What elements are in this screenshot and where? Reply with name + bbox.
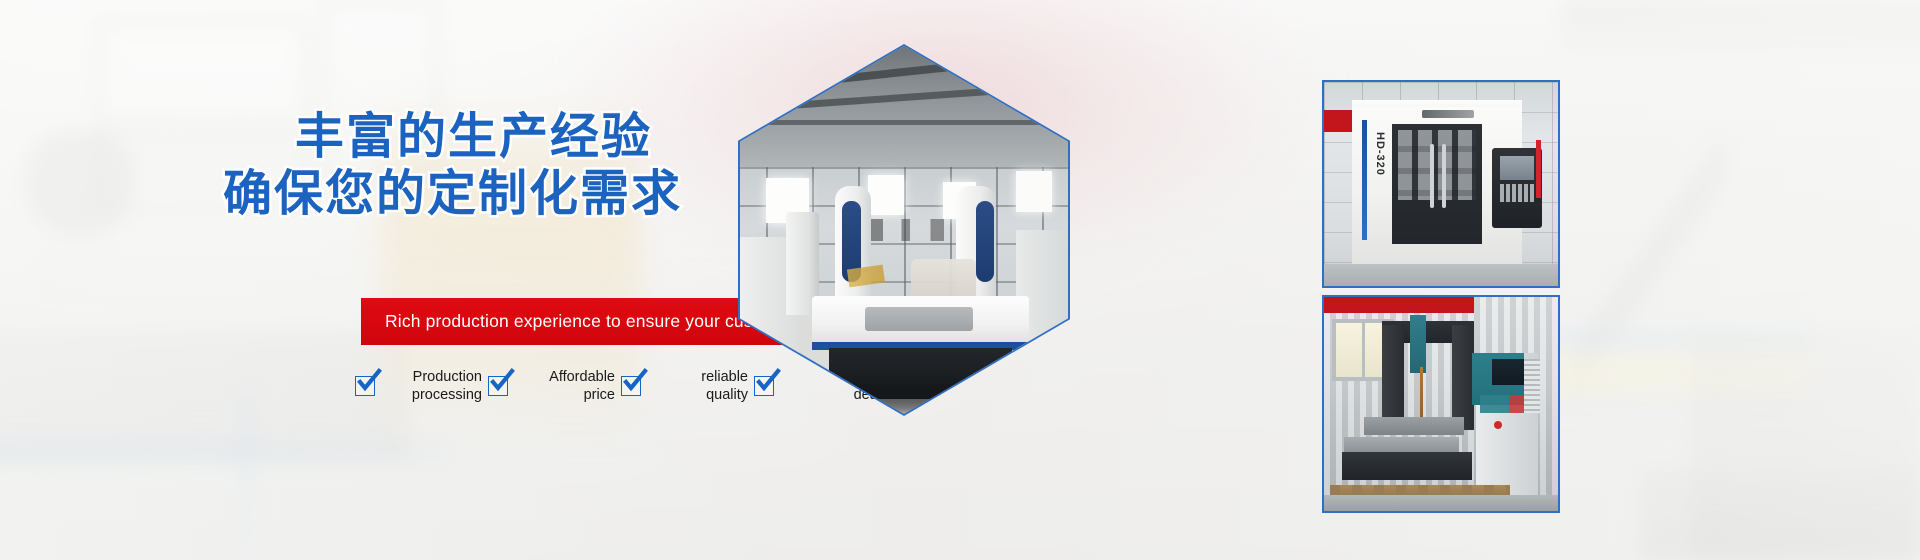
- p1-brand-logo: [1422, 110, 1474, 118]
- p1-door-handle: [1442, 144, 1446, 208]
- hexagon-photo-frame: [738, 44, 1070, 416]
- p1-door-handle: [1430, 144, 1434, 208]
- photo-hd320-machining-center: HD-320: [1322, 80, 1560, 288]
- p2-gantry-column-left: [1382, 325, 1404, 430]
- checkbox-checked-icon[interactable]: [355, 376, 375, 396]
- p1-red-accent: [1536, 140, 1541, 198]
- p2-emergency-stop-button: [1494, 421, 1502, 429]
- p1-model-label: HD-320: [1370, 132, 1386, 202]
- feature-item-reliable-quality[interactable]: reliable quality: [621, 368, 754, 404]
- feature-item-production-processing[interactable]: Production processing: [355, 368, 488, 404]
- p2-gantry-column-right: [1452, 325, 1474, 430]
- p2-floor: [1324, 495, 1558, 511]
- p2-table-upper: [1364, 417, 1464, 435]
- checkbox-checked-icon[interactable]: [488, 376, 508, 396]
- headline-line-1: 丰富的生产经验: [0, 108, 700, 165]
- p2-control-keypad: [1480, 395, 1528, 413]
- feature-label-line-1: Affordable: [549, 369, 615, 385]
- photo-edm-gantry-machine: [1322, 295, 1560, 513]
- machine-bed-window: [865, 307, 973, 331]
- hexagon-photo-cnc-line: [740, 46, 1068, 414]
- p2-teal-head: [1410, 315, 1426, 373]
- wall-sign-text: [871, 219, 956, 241]
- feature-label-line-2: price: [584, 387, 615, 403]
- feature-label-line-1: Production: [413, 369, 482, 385]
- p2-machine-bed: [1342, 452, 1472, 480]
- wall-window: [868, 175, 904, 215]
- feature-label: reliable quality: [650, 368, 748, 404]
- roof-beam: [760, 120, 1049, 126]
- factory-ceiling: [740, 46, 1068, 171]
- p2-window-mullion: [1362, 319, 1365, 381]
- p1-control-screen: [1500, 156, 1534, 180]
- p1-floor: [1324, 264, 1558, 286]
- promo-banner: 丰富的生产经验 确保您的定制化需求 Rich production experi…: [0, 0, 1920, 560]
- p2-cabinet-vents: [1524, 359, 1540, 413]
- feature-label-line-2: processing: [412, 387, 482, 403]
- feature-label: Affordable price: [517, 368, 615, 404]
- p1-control-keypad: [1500, 184, 1534, 202]
- wall-window: [1016, 171, 1052, 211]
- headline-line-2: 确保您的定制化需求: [0, 165, 700, 222]
- machine-column-c-panel: [976, 201, 994, 282]
- p1-blue-stripe: [1362, 120, 1367, 240]
- page-title: 丰富的生产经验 确保您的定制化需求: [0, 108, 700, 222]
- feature-item-affordable-price[interactable]: Affordable price: [488, 368, 621, 404]
- checkbox-checked-icon[interactable]: [621, 376, 641, 396]
- p2-red-banner: [1324, 297, 1474, 313]
- feature-label: Production processing: [384, 368, 482, 404]
- machine-base-shadow: [806, 385, 1042, 414]
- p1-door-window: [1398, 130, 1476, 200]
